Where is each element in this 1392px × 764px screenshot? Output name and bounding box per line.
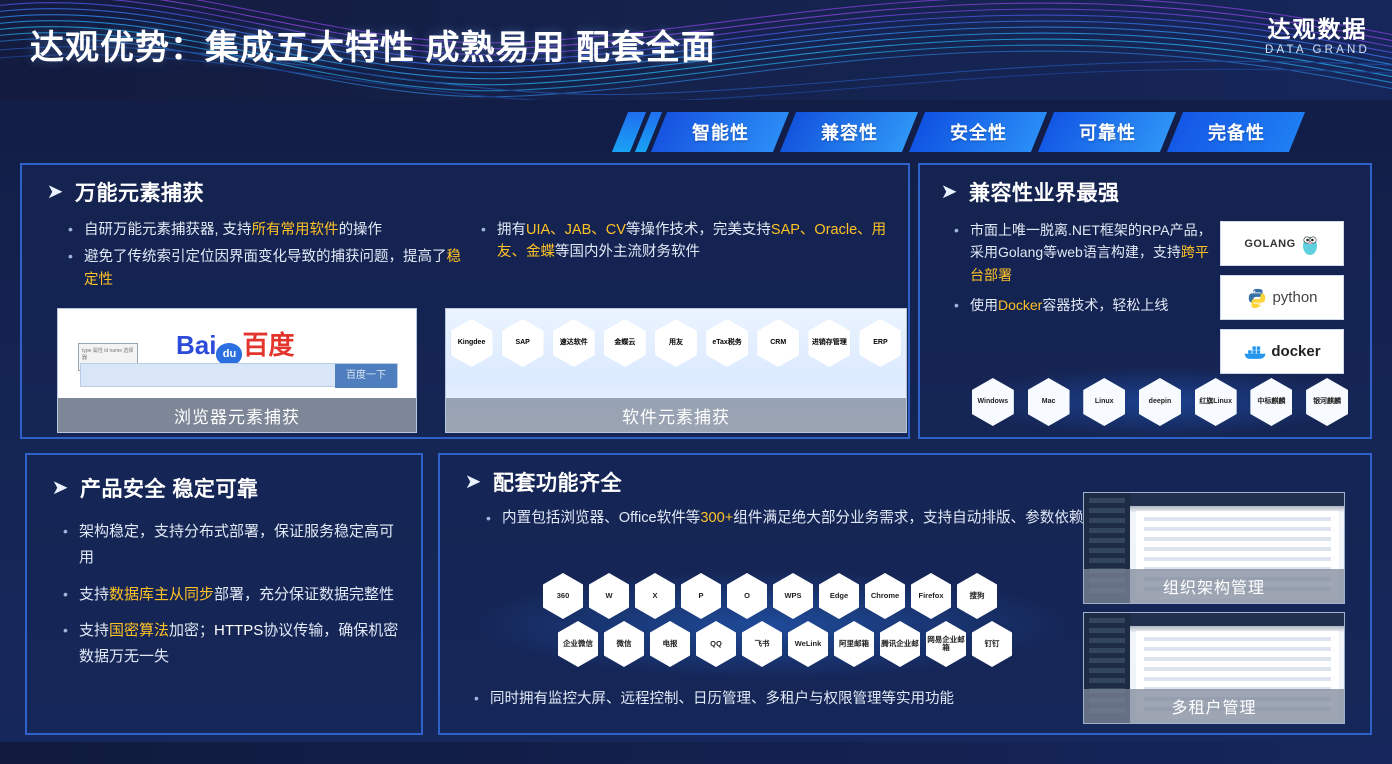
bullet-text: 避免了传统索引定位因界面变化导致的捕获问题，提高了: [84, 249, 447, 265]
mini-topbar: [1130, 613, 1344, 626]
edge-icon: Edge: [819, 573, 859, 619]
tab-reliability[interactable]: 可靠性: [1038, 112, 1176, 152]
python-icon: [1246, 287, 1268, 309]
app-icon-row-1: 360WXPOWPSEdgeChromeFirefox搜狗: [470, 573, 1070, 619]
app-icon-zone: 360WXPOWPSEdgeChromeFirefox搜狗 企业微信微信电报QQ…: [470, 570, 1070, 680]
golang-card: GOLANG: [1220, 221, 1344, 266]
bullet-text: Docker: [998, 297, 1042, 313]
panel3-bullets: 架构稳定，支持分布式部署，保证服务稳定高可用支持数据库主从同步部署，充分保证数据…: [59, 519, 403, 670]
icon-label: 金蝶云: [614, 339, 635, 346]
tab-label: 兼容性: [821, 119, 878, 145]
baidu-search-button[interactable]: 百度一下: [335, 364, 397, 388]
welink-icon: WeLink: [788, 621, 828, 667]
bullet-text: 架构稳定，支持分布式部署，保证服务稳定高可用: [79, 523, 394, 566]
icon-label: 飞书: [755, 640, 770, 648]
icon-label: O: [744, 592, 750, 600]
python-card: python: [1220, 275, 1344, 320]
baidu-paw-icon: du: [216, 343, 242, 365]
bullet-text: 加密；: [169, 622, 214, 639]
outlook-icon: O: [727, 573, 767, 619]
python-label: python: [1272, 289, 1317, 306]
software-capture-screenshot: KingdeeSAP速达软件金蝶云用友eTax税务CRM进销存管理ERP 软件元…: [445, 308, 907, 433]
browser-capture-screenshot: Baidu百度 type 属性 id name 选择器 百度一下 浏览器元素捕获: [57, 308, 417, 433]
excel-icon: X: [635, 573, 675, 619]
sudaruanjian-icon: 速达软件: [553, 319, 595, 367]
firefox-icon: Firefox: [911, 573, 951, 619]
telegram-icon: 电报: [650, 621, 690, 667]
bullet-text: 内置包括浏览器、Office软件等: [502, 510, 700, 526]
bullet-text: 容器技术，轻松上线: [1042, 297, 1168, 313]
icon-label: 进销存管理: [812, 339, 847, 346]
dingxin-icon: 进销存管理: [808, 319, 850, 367]
app-icon-row-2: 企业微信微信电报QQ飞书WeLink阿里邮箱腾讯企业邮网易企业邮箱钉钉: [500, 621, 1070, 667]
feature-tab-strip: 智能性 兼容性 安全性 可靠性 完备性: [620, 112, 1297, 152]
icon-label: W: [605, 592, 612, 600]
bullet-text: 自研万能元素捕获器, 支持: [84, 222, 252, 238]
docker-whale-icon: [1243, 342, 1267, 362]
browser-capture-caption: 浏览器元素捕获: [58, 398, 416, 432]
arrow-icon: ➤: [44, 181, 66, 203]
neokylin-icon: 中标麒麟: [1250, 378, 1292, 426]
slide-header: 达观优势：集成五大特性 成熟易用 配套全面 达观数据 DATA GRAND: [0, 0, 1392, 100]
bullet-item: 使用Docker容器技术，轻松上线: [950, 294, 1220, 316]
bullet-text: 300+: [700, 510, 733, 526]
bullet-text: 市面上唯一脱离.NET框架的RPA产品，采用Golang等web语言构建，支持: [970, 222, 1212, 260]
erp-icon: ERP: [859, 319, 901, 367]
icon-label: SAP: [515, 339, 529, 346]
word-icon: W: [589, 573, 629, 619]
icon-label: CRM: [770, 339, 786, 346]
chrome-icon: Chrome: [865, 573, 905, 619]
tab-security[interactable]: 安全性: [909, 112, 1047, 152]
icon-label: 阿里邮箱: [839, 640, 869, 648]
bullet-item: 拥有UIA、JAB、CV等操作技术，完美支持SAP、Oracle、用友、金蝶等国…: [477, 219, 887, 264]
kingdee-icon: Kingdee: [451, 319, 493, 367]
brand-logo-en: DATA GRAND: [1265, 44, 1370, 56]
docker-label: docker: [1271, 343, 1320, 360]
yonyou-icon: 用友: [655, 319, 697, 367]
icon-label: eTax税务: [712, 339, 741, 346]
icon-label: Chrome: [871, 592, 899, 600]
icon-label: Linux: [1095, 398, 1114, 406]
software-icon-row: KingdeeSAP速达软件金蝶云用友eTax税务CRM进销存管理ERP: [446, 319, 906, 367]
icon-label: Kingdee: [458, 339, 486, 346]
aliyun-mail-icon: 阿里邮箱: [834, 621, 874, 667]
panel1-bullets-left: 自研万能元素捕获器, 支持所有常用软件的操作避免了传统索引定位因界面变化导致的捕…: [64, 219, 467, 291]
icon-label: WPS: [784, 592, 801, 600]
arrow-icon: ➤: [938, 181, 960, 203]
bullet-item: 市面上唯一脱离.NET框架的RPA产品，采用Golang等web语言构建，支持跨…: [950, 219, 1220, 286]
bullet-text: HTTPS: [214, 622, 263, 639]
wps-icon: WPS: [773, 573, 813, 619]
panel2-bullets: 市面上唯一脱离.NET框架的RPA产品，采用Golang等web语言构建，支持跨…: [920, 219, 1220, 383]
baidu-search-input[interactable]: 百度一下: [80, 363, 398, 387]
icon-label: QQ: [710, 640, 722, 648]
tab-label: 安全性: [950, 119, 1007, 145]
panel4-title: 配套功能齐全: [493, 467, 622, 497]
icon-label: Firefox: [918, 592, 943, 600]
icon-label: Windows: [978, 398, 1009, 406]
icon-label: WeLink: [795, 640, 822, 648]
golang-label: GOLANG: [1244, 238, 1295, 250]
bullet-item: 支持数据库主从同步部署，充分保证数据完整性: [59, 582, 403, 608]
baidu-logo: Baidu百度: [176, 325, 294, 365]
360-icon: 360: [543, 573, 583, 619]
linux-icon: Linux: [1083, 378, 1125, 426]
bullet-item: 支持国密算法加密；HTTPS协议传输，确保机密数据万无一失: [59, 618, 403, 671]
icon-label: 企业微信: [563, 640, 593, 648]
icon-label: 红旗Linux: [1199, 398, 1232, 406]
deepin-icon: deepin: [1139, 378, 1181, 426]
page-title: 达观优势：集成五大特性 成熟易用 配套全面: [30, 20, 716, 69]
icon-label: 微信: [617, 640, 632, 648]
bullet-text: 拥有: [497, 222, 526, 238]
panel1-header: ➤ 万能元素捕获: [44, 177, 908, 207]
bullet-text: 国密算法: [109, 622, 169, 639]
icon-label: deepin: [1149, 398, 1172, 406]
tab-compatibility[interactable]: 兼容性: [780, 112, 918, 152]
org-structure-screenshot: 组织架构管理: [1083, 492, 1345, 604]
icon-label: 网易企业邮箱: [926, 636, 966, 652]
baidu-logo-cn: 百度: [242, 330, 294, 360]
bullet-item: 自研万能元素捕获器, 支持所有常用软件的操作: [64, 219, 467, 241]
bullet-text: 等国内外主流财务软件: [555, 244, 700, 260]
netease-mail-icon: 网易企业邮箱: [926, 621, 966, 667]
crm-icon: CRM: [757, 319, 799, 367]
panel1-title: 万能元素捕获: [75, 177, 204, 207]
dingtalk-icon: 钉钉: [972, 621, 1012, 667]
brand-logo: 达观数据 DATA GRAND: [1265, 16, 1370, 56]
icon-label: 钉钉: [985, 640, 1000, 648]
qq-icon: QQ: [696, 621, 736, 667]
panel3-header: ➤ 产品安全 稳定可靠: [49, 473, 421, 503]
sap-icon: SAP: [502, 319, 544, 367]
bullet-text: 同时拥有监控大屏、远程控制、日历管理、多租户与权限管理等实用功能: [490, 691, 954, 707]
icon-label: 电报: [663, 640, 678, 648]
icon-label: ERP: [873, 339, 887, 346]
panel1-bullets-right: 拥有UIA、JAB、CV等操作技术，完美支持SAP、Oracle、用友、金蝶等国…: [477, 219, 887, 264]
icon-label: 搜狗: [970, 592, 985, 600]
bullet-text: UIA、JAB、CV: [526, 222, 626, 238]
icon-label: 中标麒麟: [1257, 398, 1285, 406]
bullet-item: 架构稳定，支持分布式部署，保证服务稳定高可用: [59, 519, 403, 572]
bullet-text: 数据库主从同步: [109, 586, 214, 603]
kylin-icon: 银河麒麟: [1306, 378, 1348, 426]
mini-topbar: [1130, 493, 1344, 506]
slide-footer-bar: [0, 742, 1392, 764]
software-capture-caption: 软件元素捕获: [446, 398, 906, 432]
bullet-item: 避免了传统索引定位因界面变化导致的捕获问题，提高了稳定性: [64, 246, 467, 291]
tab-intelligence[interactable]: 智能性: [651, 112, 789, 152]
bullet-text: 使用: [970, 297, 998, 313]
wechat-icon: 微信: [604, 621, 644, 667]
bullet-text: 支持: [79, 586, 109, 603]
multi-tenant-caption: 多租户管理: [1084, 689, 1344, 723]
panel4-foot-bullets: 同时拥有监控大屏、远程控制、日历管理、多租户与权限管理等实用功能: [470, 688, 1070, 715]
brand-logo-cn: 达观数据: [1265, 16, 1370, 42]
baidu-logo-bai: Bai: [176, 330, 216, 360]
panel3-title: 产品安全 稳定可靠: [80, 473, 258, 503]
bullet-text: 所有常用软件: [252, 222, 339, 238]
slide-root: 达观优势：集成五大特性 成熟易用 配套全面 达观数据 DATA GRAND 智能…: [0, 0, 1392, 764]
bullet-text: 的操作: [339, 222, 383, 238]
tab-completeness[interactable]: 完备性: [1167, 112, 1305, 152]
os-compatibility-band: WindowsMacLinuxdeepin红旗Linux中标麒麟银河麒麟: [965, 368, 1355, 436]
bullet-item: 同时拥有监控大屏、远程控制、日历管理、多租户与权限管理等实用功能: [470, 688, 1070, 710]
redflag-linux-icon: 红旗Linux: [1195, 378, 1237, 426]
icon-label: Edge: [830, 592, 848, 600]
bullet-text: 部署，充分保证数据完整性: [214, 586, 394, 603]
panel-product-security: ➤ 产品安全 稳定可靠 架构稳定，支持分布式部署，保证服务稳定高可用支持数据库主…: [25, 453, 423, 735]
tab-label: 完备性: [1208, 119, 1265, 145]
icon-label: 360: [557, 592, 570, 600]
wecom-icon: 企业微信: [558, 621, 598, 667]
org-structure-caption: 组织架构管理: [1084, 569, 1344, 603]
bullet-text: 等操作技术，完美支持: [626, 222, 771, 238]
etax-icon: eTax税务: [706, 319, 748, 367]
icon-label: 银河麒麟: [1313, 398, 1341, 406]
sogou-icon: 搜狗: [957, 573, 997, 619]
panel2-title: 兼容性业界最强: [969, 177, 1120, 207]
arrow-icon: ➤: [49, 477, 71, 499]
icon-label: 用友: [669, 339, 683, 346]
windows-icon: Windows: [972, 378, 1014, 426]
icon-label: 速达软件: [560, 339, 588, 346]
bullet-text: 支持: [79, 622, 109, 639]
jindiecloud-icon: 金蝶云: [604, 319, 646, 367]
tech-stack-cards: GOLANG python: [1220, 219, 1344, 383]
feishu-icon: 飞书: [742, 621, 782, 667]
panel2-header: ➤ 兼容性业界最强: [938, 177, 1370, 207]
tab-label: 智能性: [692, 119, 749, 145]
powerpoint-icon: P: [681, 573, 721, 619]
mac-icon: Mac: [1028, 378, 1070, 426]
icon-label: Mac: [1042, 398, 1056, 406]
tencent-exmail-icon: 腾讯企业邮: [880, 621, 920, 667]
multi-tenant-screenshot: 多租户管理: [1083, 612, 1345, 724]
golang-gopher-icon: [1300, 232, 1320, 256]
tab-label: 可靠性: [1079, 119, 1136, 145]
icon-label: X: [652, 592, 657, 600]
icon-label: 腾讯企业邮: [881, 640, 919, 648]
arrow-icon: ➤: [462, 471, 484, 493]
icon-label: P: [698, 592, 703, 600]
